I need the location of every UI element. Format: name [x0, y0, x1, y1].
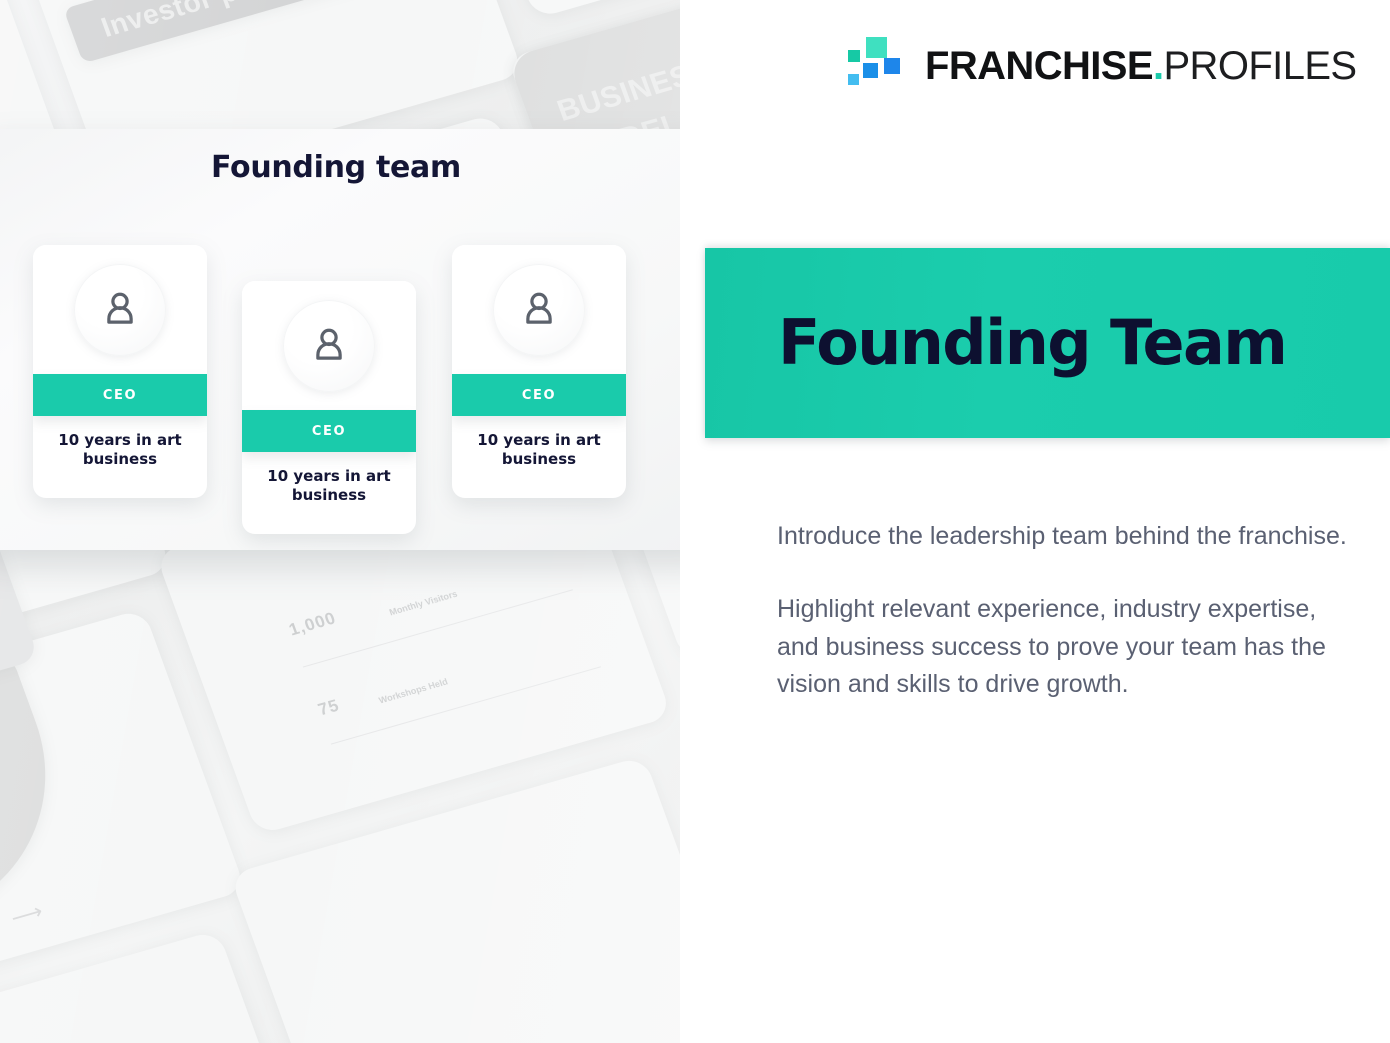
person-icon: [97, 287, 143, 333]
slide-preview-card[interactable]: Founding team CEO 10 years in art busine…: [0, 129, 706, 550]
page-title: Founding Team: [778, 312, 1286, 374]
logo-word-profiles: PROFILES: [1163, 44, 1356, 88]
person-description: 10 years in art business: [33, 416, 207, 498]
logo-square-cyan-small: [848, 74, 859, 85]
slide-canvas: MARKET Significant growth in urban and s…: [0, 0, 1390, 1043]
person-role-badge: CEO: [33, 374, 207, 416]
avatar: [283, 300, 375, 392]
brand-logo[interactable]: FRANCHISE.PROFILES: [848, 37, 1357, 95]
logo-square-blue-mid: [863, 63, 878, 78]
person-icon: [306, 323, 352, 369]
logo-square-teal-small: [848, 50, 860, 62]
body-copy: Introduce the leadership team behind the…: [777, 518, 1347, 703]
preview-slide-title: Founding team: [0, 150, 672, 185]
body-paragraph-2: Highlight relevant experience, industry …: [777, 591, 1347, 703]
person-description: 10 years in art business: [452, 416, 626, 498]
avatar: [74, 264, 166, 356]
person-role-badge: CEO: [242, 410, 416, 452]
person-card[interactable]: CEO 10 years in art business: [242, 281, 416, 534]
logo-mark-icon: [848, 37, 908, 95]
logo-square-blue-right: [884, 58, 900, 74]
body-paragraph-1: Introduce the leadership team behind the…: [777, 518, 1347, 555]
logo-square-mint-large: [866, 37, 887, 58]
avatar-area: [452, 245, 626, 374]
avatar-area: [242, 281, 416, 410]
logo-wordmark: FRANCHISE.PROFILES: [925, 46, 1357, 86]
person-role-badge: CEO: [452, 374, 626, 416]
content-panel: FRANCHISE.PROFILES Founding Team Introdu…: [680, 0, 1390, 1043]
person-card[interactable]: CEO 10 years in art business: [452, 245, 626, 498]
avatar: [493, 264, 585, 356]
logo-word-franchise: FRANCHISE: [925, 44, 1153, 88]
person-card[interactable]: CEO 10 years in art business: [33, 245, 207, 498]
person-icon: [516, 287, 562, 333]
logo-dot: .: [1153, 44, 1164, 88]
person-description: 10 years in art business: [242, 452, 416, 534]
avatar-area: [33, 245, 207, 374]
heading-band: Founding Team: [705, 248, 1390, 438]
